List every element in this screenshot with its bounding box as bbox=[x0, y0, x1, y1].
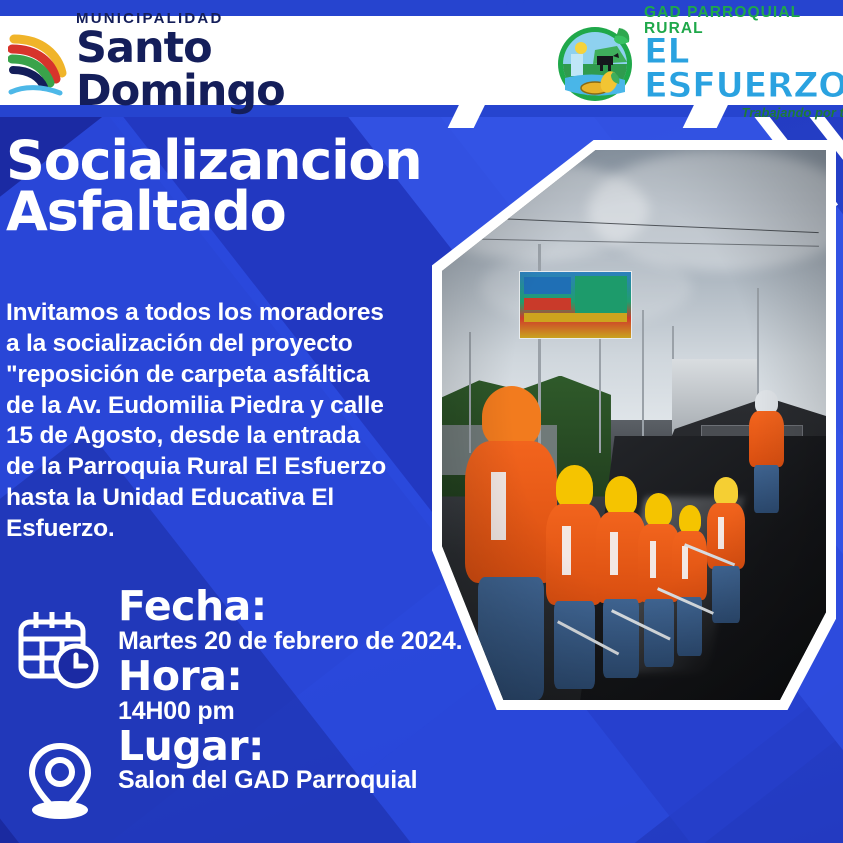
gad-logo: GAD PARROQUIAL RURAL EL ESFUERZO Trabaja… bbox=[553, 20, 838, 104]
gad-name: EL ESFUERZO bbox=[644, 36, 843, 103]
event-details: Fecha: Martes 20 de febrero de 2024. Hor… bbox=[118, 586, 588, 795]
calendar-clock-icon bbox=[16, 608, 102, 692]
place-label: Lugar: bbox=[118, 726, 588, 768]
date-label: Fecha: bbox=[118, 586, 588, 628]
santo-domingo-fan-logo bbox=[8, 25, 70, 99]
page-title: Socializancion Asfaltado bbox=[6, 136, 476, 238]
map-pin-icon bbox=[22, 740, 98, 822]
gad-wordmark: GAD PARROQUIAL RURAL EL ESFUERZO Trabaja… bbox=[644, 5, 843, 119]
place-value: Salon del GAD Parroquial bbox=[118, 767, 588, 794]
page-title-line-2: Asfaltado bbox=[6, 187, 476, 238]
municipality-name: Santo Domingo bbox=[76, 27, 368, 113]
time-label: Hora: bbox=[118, 656, 588, 698]
municipality-logo: MUNICIPALIDAD Santo Domingo bbox=[8, 22, 368, 102]
el-esfuerzo-circular-emblem bbox=[553, 20, 637, 104]
invitation-paragraph: Invitamos a todos los moradores a la soc… bbox=[6, 298, 391, 545]
date-value: Martes 20 de febrero de 2024. bbox=[118, 628, 588, 655]
municipality-wordmark: MUNICIPALIDAD Santo Domingo bbox=[76, 11, 368, 113]
gad-slogan: Trabajando por ti bbox=[644, 106, 843, 119]
time-value: 14H00 pm bbox=[118, 698, 588, 725]
poster: MUNICIPALIDAD Santo Domingo bbox=[0, 0, 843, 843]
